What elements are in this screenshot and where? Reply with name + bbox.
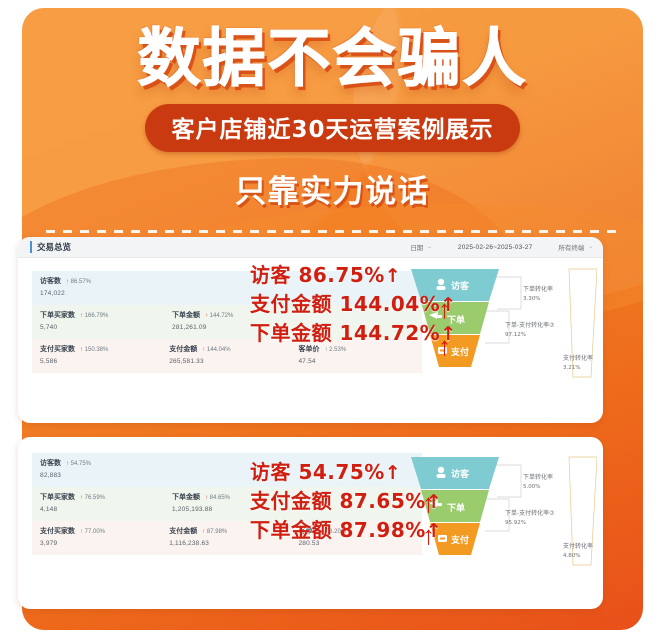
terminal-filter-label-1: 所有终端	[558, 242, 584, 252]
metric-value: 265,581.33	[169, 358, 298, 365]
overlay-value: 87.98%	[339, 518, 425, 542]
svg-text:支付转化率: 支付转化率	[563, 354, 593, 362]
svg-text:支付: 支付	[450, 534, 469, 546]
metric-value: 47.54	[298, 358, 414, 365]
overlay-value: 86.75%	[298, 263, 384, 287]
hero-pill-wrap: 客户店铺近30天运营案例展示	[22, 104, 643, 152]
metric-delta: ↑ 77.00%	[80, 529, 105, 535]
metric-delta: ↑ 84.65%	[205, 495, 230, 501]
metric-cell: 支付买家数 ↑ 150.38% 5,586	[40, 344, 169, 373]
svg-text:97.12%: 97.12%	[505, 332, 526, 338]
promo-poster: 数据不会骗人 客户店铺近30天运营案例展示 只靠实力说话 交易总览 日期 ⌄ 2…	[0, 0, 665, 639]
overlay-label: 支付金额	[250, 489, 332, 513]
metric-label: 下单金额	[172, 492, 200, 502]
metric-cell: 下单买家数 ↑ 166.79% 5,740	[40, 310, 172, 339]
overlay-value: 144.04%	[339, 292, 440, 316]
page-title: 数据不会骗人	[22, 26, 643, 92]
metric-cell: 支付买家数 ↑ 77.00% 3,979	[40, 526, 169, 555]
trend-up-icon: ↑	[205, 313, 208, 319]
svg-text:支付转化率: 支付转化率	[563, 542, 593, 550]
arrow-up-icon: ↑	[385, 265, 401, 287]
metric-label: 访客数	[40, 276, 61, 286]
dashed-divider	[46, 230, 619, 233]
decor-arrow-up-icon: ↑	[422, 522, 435, 548]
trend-up-icon: ↑	[202, 347, 205, 353]
svg-text:3.21%: 3.21%	[563, 365, 580, 371]
svg-text:下单转化率: 下单转化率	[523, 285, 553, 293]
metric-cell: 访客数 ↑ 54.75% 82,883	[40, 458, 172, 487]
metric-delta: ↑ 87.98%	[202, 529, 227, 535]
svg-text:支付: 支付	[450, 346, 469, 358]
overlay-label: 支付金额	[250, 292, 332, 316]
decor-arrow-up-icon: ↑	[422, 490, 435, 516]
terminal-filter-1[interactable]: 所有终端 ⌄	[558, 242, 593, 252]
decor-arrow-up-icon: ↑	[438, 333, 451, 359]
card-1-header-controls: 日期 ⌄ 2025-02-26~2025-03-27 所有终端 ⌄	[410, 242, 593, 252]
metric-cell: 访客数 ↑ 86.57% 174,022	[40, 276, 172, 305]
svg-text:3.30%: 3.30%	[523, 296, 540, 302]
metric-delta-value: 84.65%	[210, 495, 230, 501]
overlay-label: 访客	[250, 460, 291, 484]
overlay-callout-2: 支付金额 144.04%↑	[250, 288, 457, 317]
overlay-callout-6: 下单金额 87.98%↑	[250, 514, 442, 543]
date-range-value-1: 2025-02-26~2025-03-27	[458, 244, 533, 251]
svg-text:访客: 访客	[451, 468, 470, 480]
svg-text:5.00%: 5.00%	[523, 484, 540, 490]
trend-up-icon: ↑	[205, 495, 208, 501]
metric-cell: 支付金额 ↑ 144.04% 265,581.33	[169, 344, 298, 373]
overlay-callout-5: 支付金额 87.65%↑	[250, 485, 442, 514]
chevron-down-icon: ⌄	[588, 244, 593, 250]
trend-up-icon: ↑	[80, 495, 83, 501]
chevron-down-icon: ⌄	[427, 244, 432, 250]
metric-value: 174,022	[40, 290, 172, 297]
trend-up-icon: ↑	[66, 461, 69, 467]
metric-delta: ↑ 166.79%	[80, 313, 108, 319]
metric-label: 支付金额	[169, 344, 197, 354]
metric-delta: ↑ 54.75%	[66, 461, 91, 467]
metric-value: 4,148	[40, 506, 172, 513]
trend-up-icon: ↑	[66, 279, 69, 285]
overlay-callout-3: 下单金额 144.72%↑	[250, 317, 457, 346]
card-1-header: 交易总览 日期 ⌄ 2025-02-26~2025-03-27 所有终端 ⌄	[18, 237, 603, 258]
overlay-label: 下单金额	[250, 518, 332, 542]
metric-delta-value: 150.38%	[85, 347, 109, 353]
trend-up-icon: ↑	[80, 313, 83, 319]
metric-value: 5,740	[40, 324, 172, 331]
trend-up-icon: ↑	[324, 347, 327, 353]
metric-delta: ↑ 144.04%	[202, 347, 230, 353]
svg-text:下单: 下单	[447, 502, 465, 514]
arrow-up-icon: ↑	[385, 462, 401, 484]
metric-label: 支付金额	[169, 526, 197, 536]
metric-value: 3,979	[40, 540, 169, 547]
metric-delta-value: 86.57%	[71, 279, 91, 285]
trend-up-icon: ↑	[80, 347, 83, 353]
overlay-value: 87.65%	[339, 489, 425, 513]
metric-delta-value: 144.72%	[210, 313, 234, 319]
metric-delta-value: 166.79%	[85, 313, 109, 319]
svg-text:4.80%: 4.80%	[563, 553, 580, 559]
card-1-title: 交易总览	[30, 241, 71, 253]
metric-label: 访客数	[40, 458, 61, 468]
overlay-value: 54.75%	[298, 460, 384, 484]
metric-label: 下单金额	[172, 310, 200, 320]
metric-delta: ↑ 150.38%	[80, 347, 108, 353]
overlay-value: 144.72%	[339, 321, 440, 345]
svg-text:下单-支付转化率⑦: 下单-支付转化率⑦	[505, 321, 555, 329]
date-filter-1[interactable]: 日期 ⌄	[410, 242, 432, 252]
decor-arrow-up-icon: ↑	[438, 296, 451, 322]
metric-delta: ↑ 2.53%	[324, 347, 346, 353]
metric-delta-value: 144.04%	[207, 347, 231, 353]
metric-cell: 客单价 ↑ 2.53% 47.54	[298, 344, 414, 373]
metric-value: 82,883	[40, 472, 172, 479]
svg-text:下单转化率: 下单转化率	[523, 473, 553, 481]
overlay-callout-4: 访客 54.75%↑	[250, 456, 401, 485]
trend-up-icon: ↑	[80, 529, 83, 535]
metric-label: 支付买家数	[40, 344, 75, 354]
metric-delta-value: 87.98%	[207, 529, 227, 535]
date-filter-label-1: 日期	[410, 242, 423, 252]
svg-text:95.92%: 95.92%	[505, 520, 526, 526]
hero-header: 数据不会骗人 客户店铺近30天运营案例展示 只靠实力说话	[22, 8, 643, 211]
metric-delta-value: 54.75%	[71, 461, 91, 467]
metric-delta-value: 77.00%	[85, 529, 105, 535]
metric-label: 下单买家数	[40, 492, 75, 502]
metric-cell: 下单买家数 ↑ 76.59% 4,148	[40, 492, 172, 521]
metric-label: 支付买家数	[40, 526, 75, 536]
overlay-callout-1: 访客 86.75%↑	[250, 259, 401, 288]
overlay-label: 下单金额	[250, 321, 332, 345]
metric-delta: ↑ 86.57%	[66, 279, 91, 285]
metric-delta-value: 76.59%	[85, 495, 105, 501]
overlay-label: 访客	[250, 263, 291, 287]
trend-up-icon: ↑	[202, 529, 205, 535]
svg-text:下单-支付转化率⑦: 下单-支付转化率⑦	[505, 509, 555, 517]
metric-delta-value: 2.53%	[329, 347, 346, 353]
metric-delta: ↑ 76.59%	[80, 495, 105, 501]
hero-tagline: 只靠实力说话	[22, 166, 643, 211]
metric-value: 5,586	[40, 358, 169, 365]
metric-label: 下单买家数	[40, 310, 75, 320]
metric-delta: ↑ 144.72%	[205, 313, 233, 319]
hero-subtitle-pill: 客户店铺近30天运营案例展示	[145, 104, 519, 152]
